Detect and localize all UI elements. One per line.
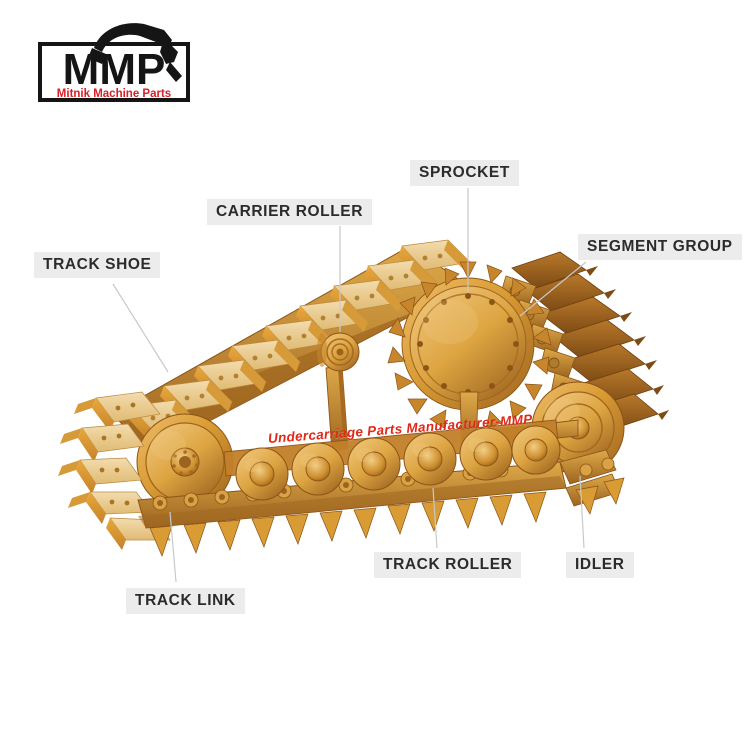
leader-track-shoe	[113, 284, 168, 372]
leader-lines	[0, 0, 750, 750]
label-carrier-roller[interactable]: CARRIER ROLLER	[207, 199, 372, 225]
leader-track-link	[170, 512, 176, 582]
label-segment-group[interactable]: SEGMENT GROUP	[578, 234, 742, 260]
leader-idler	[580, 476, 584, 548]
leader-segment-group	[520, 262, 586, 316]
leader-track-roller	[433, 488, 437, 548]
label-track-link[interactable]: TRACK LINK	[126, 588, 245, 614]
mmp-logo[interactable]: MMP Mitnik Machine Parts	[36, 18, 192, 104]
label-sprocket[interactable]: SPROCKET	[410, 160, 519, 186]
logo-main-text: MMP	[63, 45, 166, 94]
label-track-shoe[interactable]: TRACK SHOE	[34, 252, 160, 278]
label-idler[interactable]: IDLER	[566, 552, 634, 578]
diagram-canvas: MMP Mitnik Machine Parts Undercarriage P…	[0, 0, 750, 750]
label-track-roller[interactable]: TRACK ROLLER	[374, 552, 521, 578]
logo-tagline: Mitnik Machine Parts	[57, 88, 171, 100]
